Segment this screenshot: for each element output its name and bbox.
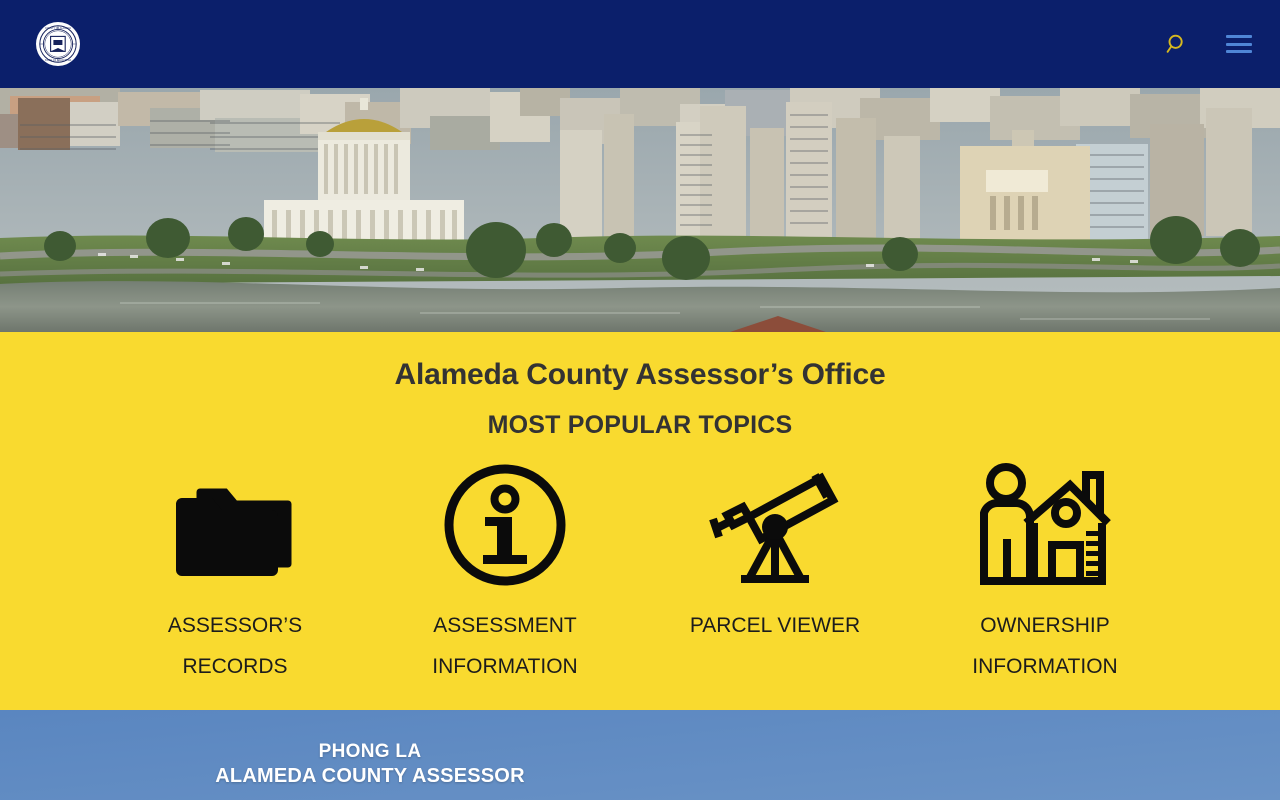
- hamburger-menu-button[interactable]: [1226, 33, 1252, 55]
- person-with-house-icon-wrap: [974, 460, 1116, 590]
- topic-parcel-viewer[interactable]: PARCEL VIEWER: [640, 460, 910, 647]
- hamburger-bar-1: [1226, 35, 1252, 38]
- search-icon-button[interactable]: [1164, 31, 1190, 57]
- folders-icon-wrap: [170, 460, 300, 590]
- assessor-intro-section: PHONG LA ALAMEDA COUNTY ASSESSOR: [0, 710, 1280, 800]
- county-seal-icon: COUNTY OF ALAMEDA STATE OF CALIFORNIA: [38, 24, 78, 64]
- site-logo-seal[interactable]: COUNTY OF ALAMEDA STATE OF CALIFORNIA: [36, 22, 80, 66]
- assessor-caption: PHONG LA ALAMEDA COUNTY ASSESSOR: [0, 740, 740, 789]
- hamburger-bar-2: [1226, 43, 1252, 46]
- info-circle-icon: [441, 461, 569, 589]
- topic-assessment-information[interactable]: ASSESSMENT INFORMATION: [370, 460, 640, 688]
- person-with-house-icon: [974, 461, 1116, 589]
- topic-label: OWNERSHIP INFORMATION: [940, 606, 1150, 688]
- section-subtitle: MOST POPULAR TOPICS: [0, 411, 1280, 440]
- topic-ownership-information[interactable]: OWNERSHIP INFORMATION: [910, 460, 1180, 688]
- assessor-name: PHONG LA: [0, 740, 740, 764]
- search-icon: [1166, 33, 1188, 55]
- hero-banner: [0, 88, 1280, 332]
- page-root: COUNTY OF ALAMEDA STATE OF CALIFORNIA: [0, 0, 1280, 800]
- topic-grid: ASSESSOR’S RECORDS ASSESSMENT INFORMATIO…: [0, 460, 1280, 688]
- assessor-role: ALAMEDA COUNTY ASSESSOR: [0, 764, 740, 789]
- page-title: Alameda County Assessor’s Office: [0, 357, 1280, 393]
- telescope-icon-wrap: [705, 460, 845, 590]
- folders-icon: [170, 466, 300, 584]
- topic-label: ASSESSMENT INFORMATION: [400, 606, 610, 688]
- topic-assessors-records[interactable]: ASSESSOR’S RECORDS: [100, 460, 370, 688]
- site-header: COUNTY OF ALAMEDA STATE OF CALIFORNIA: [0, 0, 1280, 88]
- most-popular-topics-section: Alameda County Assessor’s Office MOST PO…: [0, 332, 1280, 710]
- hamburger-bar-3: [1226, 50, 1252, 53]
- oakland-aerial-photo: [0, 88, 1280, 332]
- header-actions: [1164, 0, 1252, 88]
- topic-label: PARCEL VIEWER: [690, 606, 860, 647]
- telescope-icon: [705, 461, 845, 589]
- topic-label: ASSESSOR’S RECORDS: [130, 606, 340, 688]
- info-circle-icon-wrap: [441, 460, 569, 590]
